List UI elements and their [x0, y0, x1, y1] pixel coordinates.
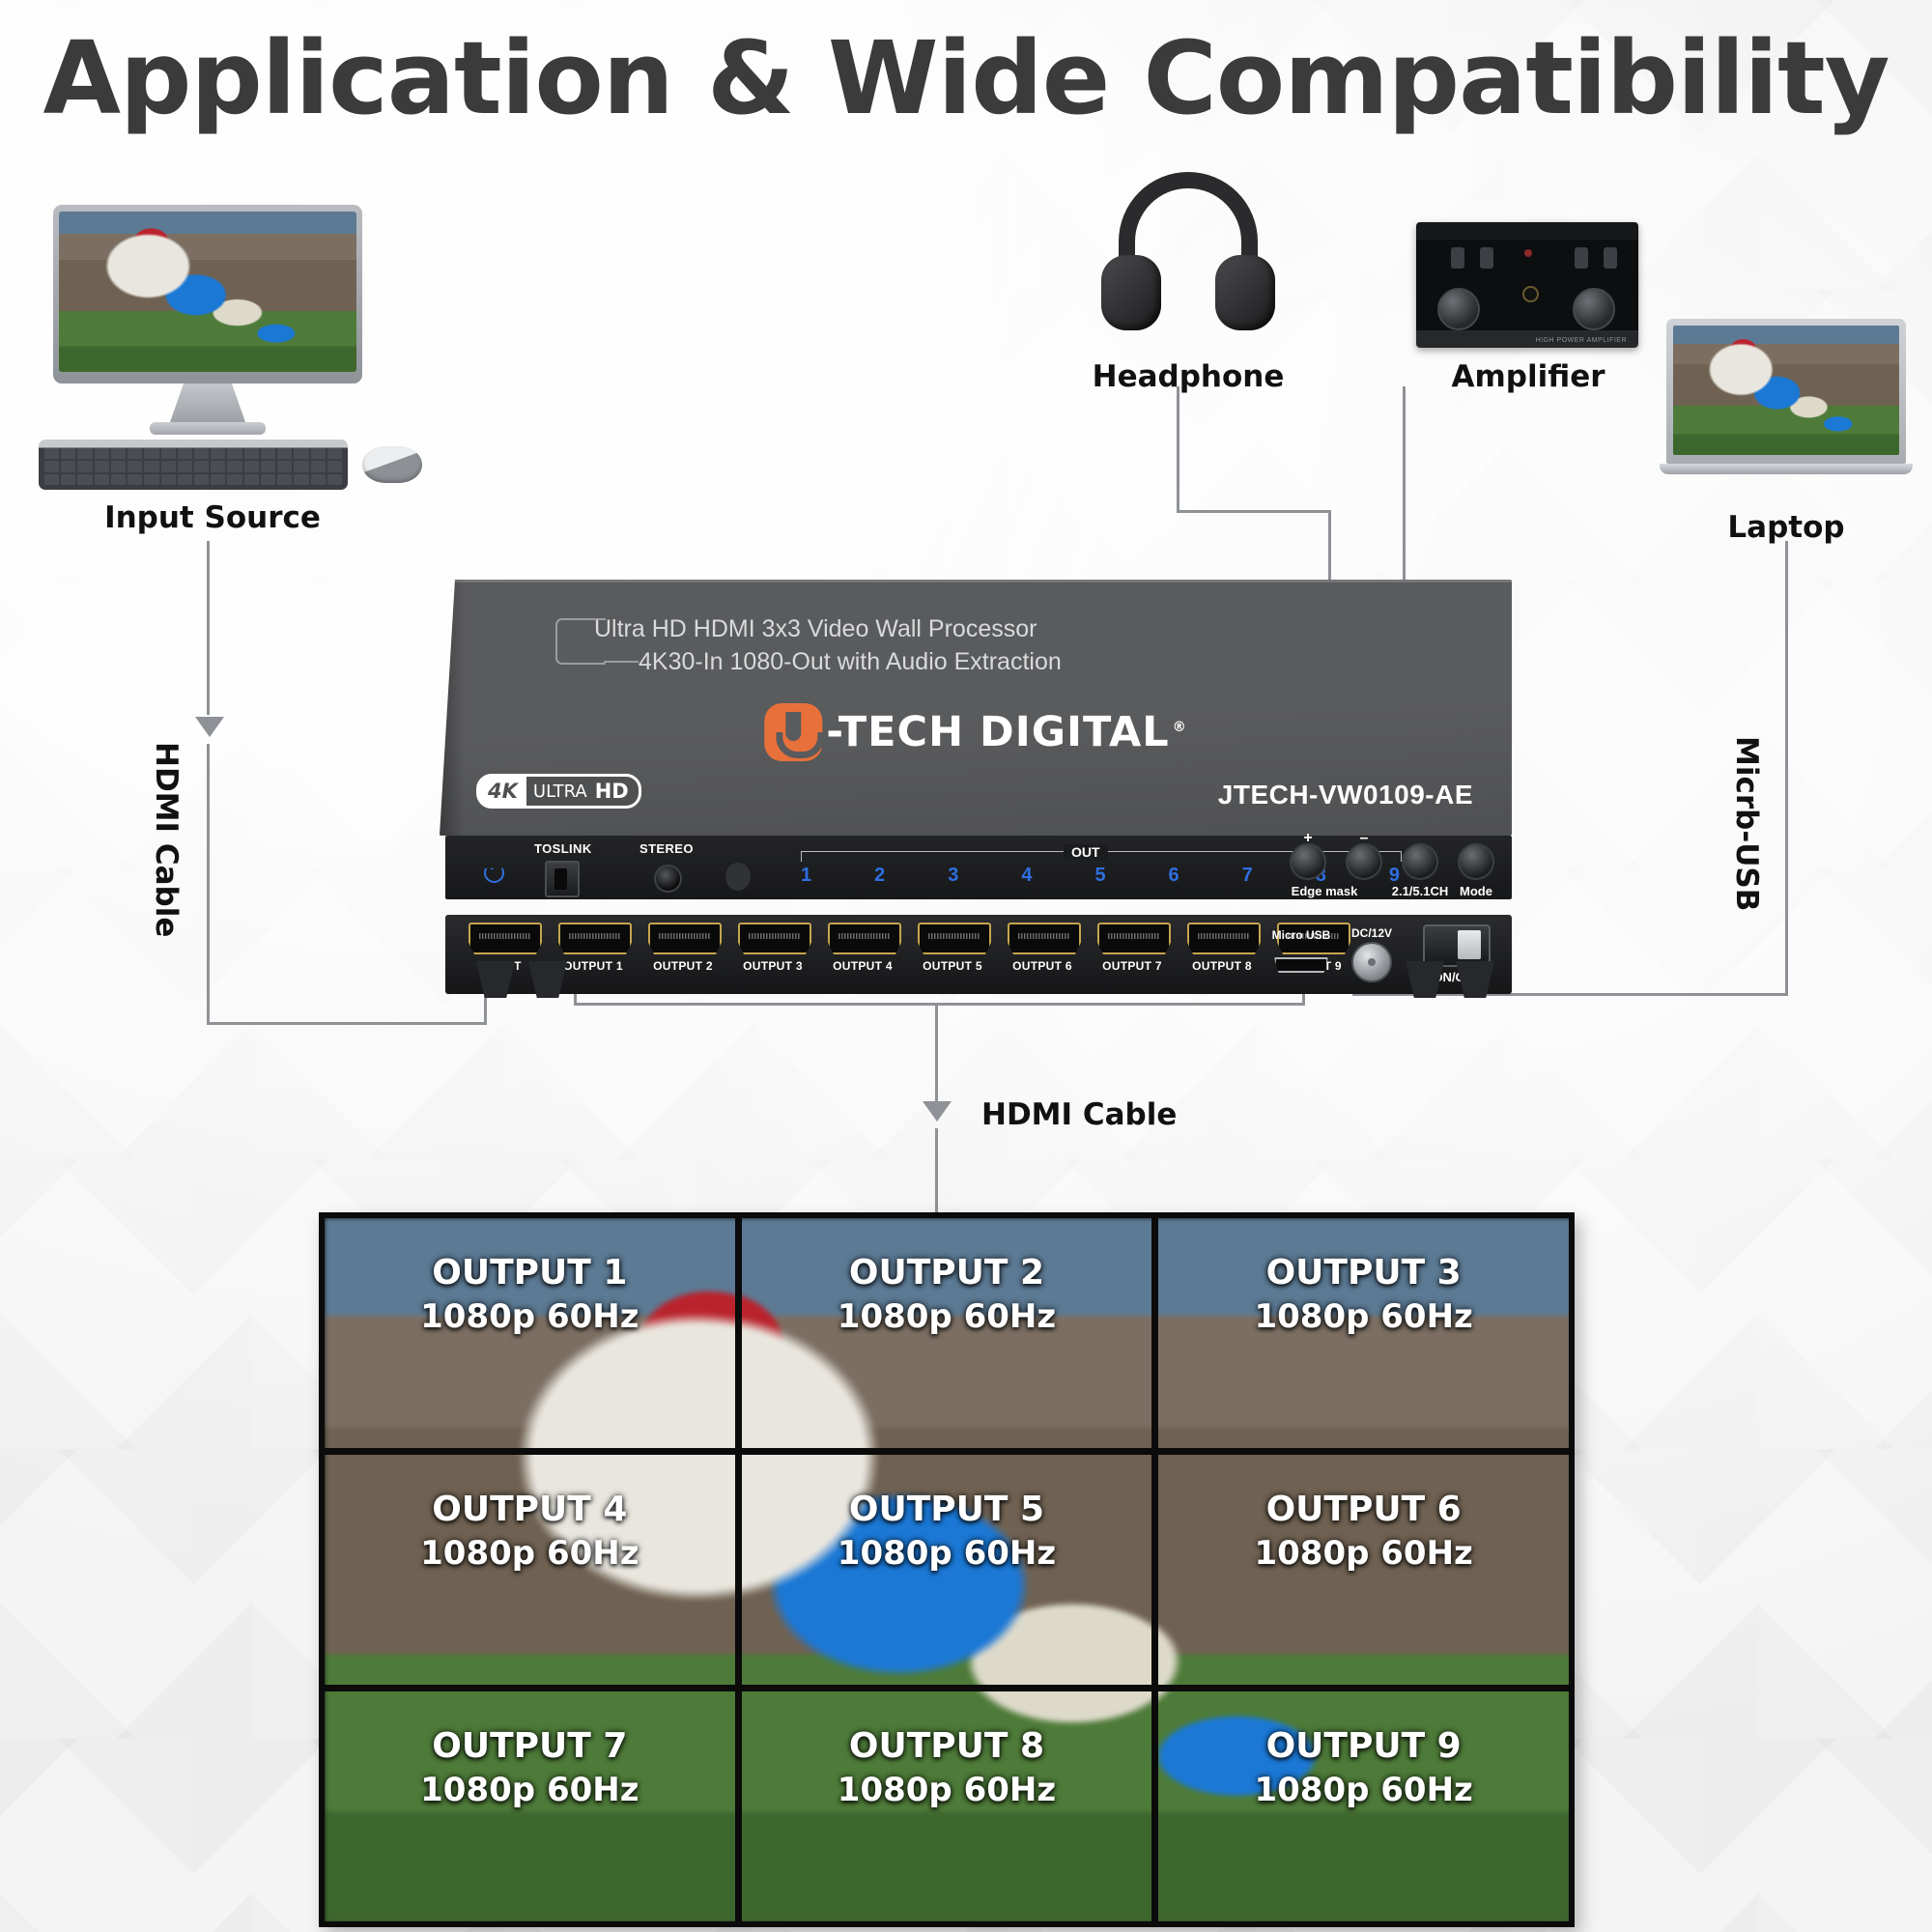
port-label: OUTPUT 6 — [1008, 959, 1077, 973]
toslink-port[interactable] — [545, 861, 580, 897]
amp-switch-1 — [1451, 247, 1464, 269]
channel-mode-button[interactable]: 2.1/5.1CH — [1402, 843, 1438, 880]
headphone-cup-left — [1101, 255, 1161, 330]
jtech-logo-icon — [764, 703, 822, 761]
line-headphone-vert — [1177, 386, 1179, 512]
processor-top-highlight — [440, 580, 1512, 582]
out-led-5: 5 — [1094, 865, 1105, 887]
tile-output-name: OUTPUT 5 — [742, 1488, 1152, 1532]
mode-label: Mode — [1460, 884, 1492, 898]
port-label: OUTPUT 4 — [828, 959, 897, 973]
minus-icon: – — [1360, 830, 1369, 847]
badge-ultra-text: ULTRA — [526, 777, 593, 806]
laptop-lid — [1666, 319, 1906, 464]
tile-output-name: OUTPUT 3 — [1158, 1251, 1569, 1295]
keyboard-keys — [44, 448, 342, 485]
video-wall-tile[interactable]: OUTPUT 6 1080p 60Hz — [1158, 1455, 1569, 1685]
badge-hd-text: HD — [593, 777, 639, 806]
input-source-label: Input Source — [53, 500, 372, 535]
port-label: OUTPUT 7 — [1097, 959, 1167, 973]
hdmi-port-output-2[interactable]: OUTPUT 2 — [648, 923, 718, 973]
monitor-base — [150, 422, 266, 435]
micro-usb-connector-icon — [1274, 957, 1328, 973]
tile-resolution: 1080p 60Hz — [325, 1295, 735, 1338]
control-buttons: + Edge mask – 2.1/5.1CH Mode — [1290, 843, 1494, 880]
amp-switch-2 — [1480, 247, 1493, 269]
badge-4k-text: 4K — [479, 780, 526, 803]
video-wall: OUTPUT 1 1080p 60Hz OUTPUT 2 1080p 60Hz … — [319, 1212, 1575, 1927]
hdmi-port-row: INPUT OUTPUT 1 OUTPUT 2 OUTPUT 3 OUTPUT … — [469, 923, 1347, 973]
video-wall-tile[interactable]: OUTPUT 5 1080p 60Hz — [742, 1455, 1152, 1685]
rugby-photo — [59, 212, 356, 372]
brand-logo: -TECH DIGITAL® — [764, 703, 1186, 761]
monitor-bezel — [53, 205, 362, 384]
video-wall-grid: OUTPUT 1 1080p 60Hz OUTPUT 2 1080p 60Hz … — [325, 1218, 1569, 1921]
hdmi-connector-icon — [738, 923, 811, 954]
video-wall-tile[interactable]: OUTPUT 7 1080p 60Hz — [325, 1691, 735, 1921]
hdmi-port-output-1[interactable]: OUTPUT 1 — [558, 923, 628, 973]
tile-caption: OUTPUT 9 1080p 60Hz — [1158, 1724, 1569, 1811]
line-out-to-wall — [935, 1128, 938, 1215]
headphone-cup-right — [1215, 255, 1275, 330]
hdmi-connector-icon — [469, 923, 542, 954]
mouse — [362, 446, 422, 483]
line-headphone-drop — [1328, 510, 1331, 585]
dc-label: DC/12V — [1344, 926, 1400, 940]
tile-resolution: 1080p 60Hz — [1158, 1769, 1569, 1811]
tile-caption: OUTPUT 4 1080p 60Hz — [325, 1488, 735, 1575]
tile-caption: OUTPUT 7 1080p 60Hz — [325, 1724, 735, 1811]
monitor-stand — [170, 384, 245, 422]
processor-port-panel: INPUT OUTPUT 1 OUTPUT 2 OUTPUT 3 OUTPUT … — [445, 915, 1512, 994]
video-wall-tile[interactable]: OUTPUT 2 1080p 60Hz — [742, 1218, 1152, 1448]
power-switch-rocker — [1423, 924, 1491, 967]
hdmi-connector-icon — [918, 923, 991, 954]
channel-mode-label: 2.1/5.1CH — [1392, 884, 1449, 898]
tile-resolution: 1080p 60Hz — [1158, 1532, 1569, 1575]
line-laptop-vert — [1785, 541, 1788, 995]
port-label: OUTPUT 1 — [558, 959, 628, 973]
laptop-device — [1660, 319, 1913, 474]
tagline-line-1: Ultra HD HDMI 3x3 Video Wall Processor — [594, 612, 1062, 645]
headphone-icon — [1101, 172, 1275, 327]
edge-mask-plus-button[interactable]: + Edge mask — [1290, 843, 1326, 880]
video-wall-tile[interactable]: OUTPUT 1 1080p 60Hz — [325, 1218, 735, 1448]
rugby-photo-laptop — [1673, 326, 1899, 455]
tile-caption: OUTPUT 2 1080p 60Hz — [742, 1251, 1152, 1338]
video-wall-tile[interactable]: OUTPUT 4 1080p 60Hz — [325, 1455, 735, 1685]
line-amp-vert — [1403, 386, 1406, 512]
power-icon[interactable] — [484, 863, 504, 883]
port-label: OUTPUT 5 — [918, 959, 987, 973]
laptop-base — [1660, 464, 1913, 474]
line-input-horiz — [207, 1022, 487, 1025]
hdmi-connector-icon — [558, 923, 632, 954]
out-led-4: 4 — [1021, 865, 1032, 887]
line-headphone-horiz — [1177, 510, 1331, 513]
tile-output-name: OUTPUT 4 — [325, 1488, 735, 1532]
tile-resolution: 1080p 60Hz — [325, 1769, 735, 1811]
out-led-7: 7 — [1242, 865, 1253, 887]
tile-caption: OUTPUT 8 1080p 60Hz — [742, 1724, 1152, 1811]
line-input-vert-b — [207, 744, 210, 1024]
out-led-3: 3 — [948, 865, 958, 887]
dc-power-jack[interactable]: DC/12V — [1344, 926, 1400, 982]
out-led-6: 6 — [1169, 865, 1179, 887]
edge-mask-label: Edge mask — [1292, 884, 1358, 898]
hdmi-port-output-4[interactable]: OUTPUT 4 — [828, 923, 897, 973]
amplifier-label: Amplifier — [1403, 359, 1654, 394]
tile-output-name: OUTPUT 6 — [1158, 1488, 1569, 1532]
brand-name-text: -TECH DIGITAL — [826, 708, 1169, 756]
hdmi-connector-icon — [1097, 923, 1171, 954]
hdmi-connector-icon — [1187, 923, 1261, 954]
tile-resolution: 1080p 60Hz — [325, 1532, 735, 1575]
amp-knob-left — [1437, 288, 1480, 330]
tile-resolution: 1080p 60Hz — [742, 1532, 1152, 1575]
hdmi-cable-label-bottom: HDMI Cable — [981, 1097, 1177, 1132]
laptop-label: Laptop — [1660, 510, 1913, 545]
tile-output-name: OUTPUT 1 — [325, 1251, 735, 1295]
amp-switch-4 — [1604, 247, 1617, 269]
tile-output-name: OUTPUT 7 — [325, 1724, 735, 1769]
line-amp-drop — [1403, 510, 1406, 585]
tile-resolution: 1080p 60Hz — [742, 1295, 1152, 1338]
port-label: OUTPUT 2 — [648, 959, 718, 973]
out-led-2: 2 — [874, 865, 885, 887]
monitor-screen — [59, 212, 356, 372]
amp-power-led — [1524, 249, 1532, 257]
out-label: OUT — [1064, 844, 1108, 860]
micro-usb-port[interactable]: Micro USB — [1270, 928, 1332, 973]
tagline-line-2: 4K30-In 1080-Out with Audio Extraction — [639, 645, 1062, 678]
tile-resolution: 1080p 60Hz — [1158, 1295, 1569, 1338]
port-label: OUTPUT 3 — [738, 959, 808, 973]
arrow-wall-down — [923, 1101, 952, 1122]
video-wall-tile[interactable]: OUTPUT 8 1080p 60Hz — [742, 1691, 1152, 1921]
laptop-screen — [1673, 326, 1899, 455]
port-label: OUTPUT 8 — [1187, 959, 1257, 973]
tile-caption: OUTPUT 6 1080p 60Hz — [1158, 1488, 1569, 1575]
tile-caption: OUTPUT 5 1080p 60Hz — [742, 1488, 1152, 1575]
line-out-center-drop — [935, 1003, 938, 1109]
hdmi-connector-icon — [648, 923, 722, 954]
brand-name: -TECH DIGITAL® — [826, 708, 1186, 756]
amplifier-device: HIGH POWER AMPLIFIER — [1416, 222, 1638, 348]
tile-resolution: 1080p 60Hz — [742, 1769, 1152, 1811]
input-source-monitor — [53, 205, 362, 435]
microusb-cable-label: Micrb-USB — [1729, 736, 1764, 911]
hdmi-connector-icon — [1008, 923, 1081, 954]
amp-knob-right — [1573, 288, 1615, 330]
hdmi-connector-icon — [828, 923, 901, 954]
arrow-input-down — [195, 717, 224, 737]
headphone-label: Headphone — [1072, 359, 1304, 394]
hdmi-port-output-5[interactable]: OUTPUT 5 — [918, 923, 987, 973]
mode-button[interactable]: Mode — [1458, 843, 1494, 880]
4k-ultrahd-badge: 4K ULTRA HD — [476, 774, 641, 809]
processor-tagline: Ultra HD HDMI 3x3 Video Wall Processor 4… — [594, 612, 1062, 678]
tile-output-name: OUTPUT 2 — [742, 1251, 1152, 1295]
stereo-label: STEREO — [639, 841, 694, 856]
tile-output-name: OUTPUT 9 — [1158, 1724, 1569, 1769]
processor-control-panel: TOSLINK STEREO OUT 1 2 3 4 5 6 7 8 9 + E… — [445, 836, 1512, 899]
tile-caption: OUTPUT 1 1080p 60Hz — [325, 1251, 735, 1338]
edge-mask-minus-button[interactable]: – — [1346, 843, 1382, 880]
hdmi-port-output-8[interactable]: OUTPUT 8 — [1187, 923, 1257, 973]
registered-mark: ® — [1173, 720, 1187, 735]
plus-icon: + — [1303, 830, 1312, 847]
keyboard — [39, 440, 348, 490]
toslink-label: TOSLINK — [534, 841, 592, 856]
page-title: Application & Wide Compatibility — [0, 19, 1932, 137]
amp-front-text: HIGH POWER AMPLIFIER — [1536, 337, 1627, 344]
amp-phones-jack — [1522, 286, 1539, 302]
hdmi-port-output-6[interactable]: OUTPUT 6 — [1008, 923, 1077, 973]
tile-output-name: OUTPUT 8 — [742, 1724, 1152, 1769]
tile-caption: OUTPUT 3 1080p 60Hz — [1158, 1251, 1569, 1338]
video-wall-tile[interactable]: OUTPUT 9 1080p 60Hz — [1158, 1691, 1569, 1921]
amp-switch-3 — [1575, 247, 1588, 269]
processor-top-panel: Ultra HD HDMI 3x3 Video Wall Processor 4… — [440, 580, 1512, 836]
micro-usb-label: Micro USB — [1270, 928, 1332, 942]
ir-receiver — [725, 863, 751, 891]
line-out-bus — [574, 1003, 1305, 1006]
model-number: JTECH-VW0109-AE — [1218, 780, 1473, 810]
hdmi-port-output-3[interactable]: OUTPUT 3 — [738, 923, 808, 973]
stereo-jack[interactable] — [654, 865, 682, 893]
out-led-1: 1 — [801, 865, 811, 887]
dc-barrel-icon — [1351, 942, 1392, 982]
hdmi-port-output-7[interactable]: OUTPUT 7 — [1097, 923, 1167, 973]
video-wall-tile[interactable]: OUTPUT 3 1080p 60Hz — [1158, 1218, 1569, 1448]
video-wall-processor: Ultra HD HDMI 3x3 Video Wall Processor 4… — [440, 580, 1512, 994]
line-input-vert-a — [207, 541, 210, 715]
hdmi-cable-label-left: HDMI Cable — [149, 742, 184, 937]
